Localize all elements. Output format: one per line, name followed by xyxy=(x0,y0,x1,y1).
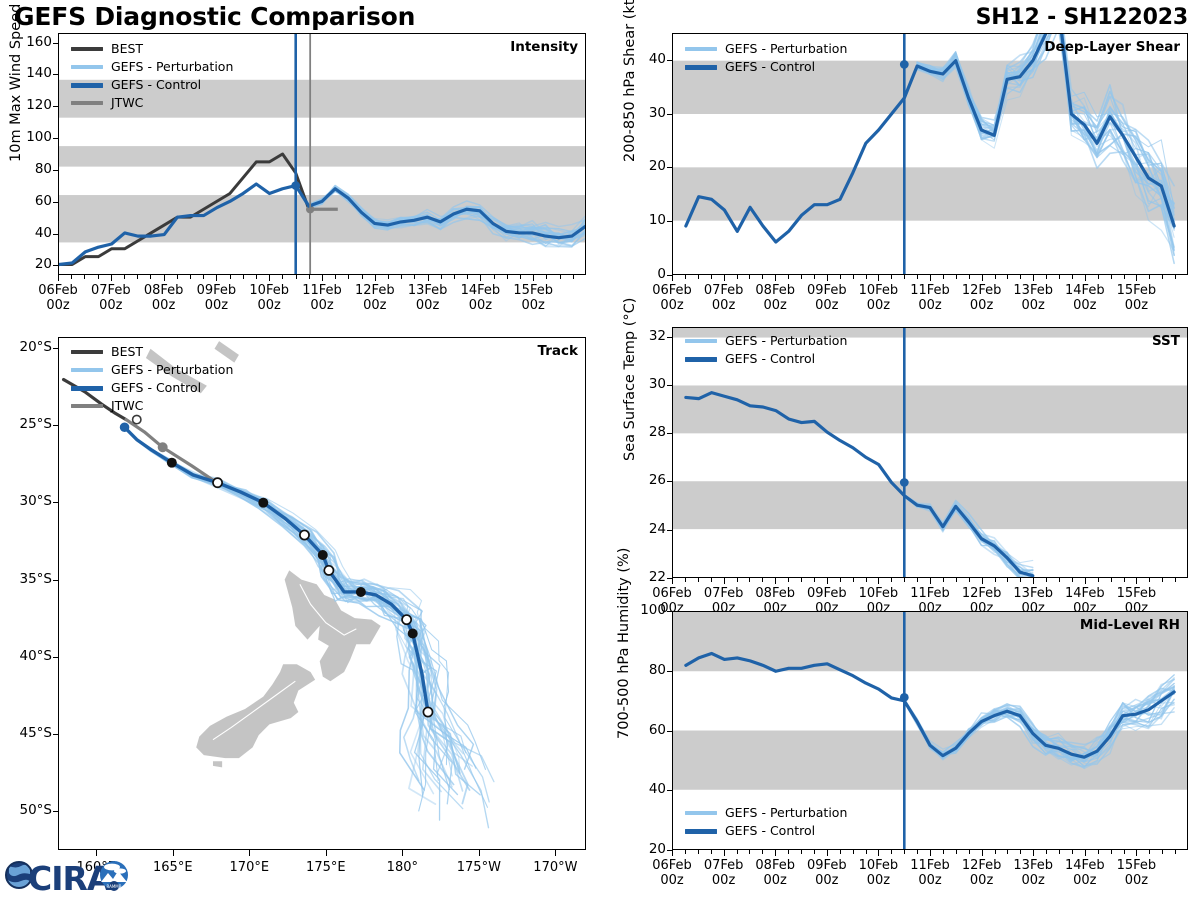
xtick-shear-minor xyxy=(1007,275,1008,279)
svg-text:CIRA: CIRA xyxy=(28,859,113,898)
ytick-track: 20°S xyxy=(4,339,52,355)
legend-item-perturbation: GEFS - Perturbation xyxy=(71,59,233,75)
xtick-intensity-minor xyxy=(98,275,99,279)
xtick-rh-mark xyxy=(1033,850,1034,856)
legend-swatch-perturbation xyxy=(71,65,103,70)
xtick-rh-minor xyxy=(866,850,867,854)
ytick-shear: 30 xyxy=(626,105,666,121)
xtick-rh-minor xyxy=(1007,850,1008,854)
legend-swatch-control xyxy=(685,829,717,834)
xtick-intensity-mark xyxy=(480,275,481,281)
xtick-sst-minor xyxy=(866,578,867,582)
xtick-sst-minor xyxy=(1149,578,1150,582)
ytick-sst: 30 xyxy=(626,376,666,392)
xtick-sst-mark xyxy=(930,578,931,584)
ytick-sst-mark xyxy=(667,433,672,434)
ytick-shear: 20 xyxy=(626,158,666,174)
xtick-rh-minor xyxy=(814,850,815,854)
xtick-intensity-minor xyxy=(560,275,561,279)
xtick-rh-minor xyxy=(685,850,686,854)
ytick-track-mark xyxy=(53,502,58,503)
xtick-rh-minor xyxy=(943,850,944,854)
xtick-rh-minor xyxy=(711,850,712,854)
xtick-rh-minor xyxy=(749,850,750,854)
legend-item-jtwc: JTWC xyxy=(71,95,233,111)
xtick-intensity: 15Feb00z xyxy=(499,283,567,314)
ytick-shear-mark xyxy=(667,167,672,168)
ytick-shear-mark xyxy=(667,221,672,222)
xtick-sst-minor xyxy=(814,578,815,582)
figure-root: GEFS Diagnostic Comparison SH12 - SH1220… xyxy=(0,0,1200,900)
legend-swatch-best xyxy=(71,47,103,52)
xtick-shear-minor xyxy=(1046,275,1047,279)
ytick-rh-mark xyxy=(667,731,672,732)
ytick-sst: 32 xyxy=(626,328,666,344)
storm-id-label: SH12 - SH122023 xyxy=(976,5,1188,30)
xtick-rh: 15Feb00z xyxy=(1102,858,1170,889)
xtick-intensity-minor xyxy=(401,275,402,279)
ytick-track-mark xyxy=(53,734,58,735)
svg-text:RAMMB: RAMMB xyxy=(107,884,122,889)
xtick-intensity-minor xyxy=(573,275,574,279)
xtick-shear-minor xyxy=(788,275,789,279)
ytick-sst: 26 xyxy=(626,472,666,488)
xtick-track: 175°W xyxy=(443,860,515,875)
xtick-rh-minor xyxy=(1124,850,1125,854)
xtick-shear-minor xyxy=(762,275,763,279)
ytick-track-mark xyxy=(53,580,58,581)
legend-label-jtwc: JTWC xyxy=(111,97,143,110)
legend-label-perturbation: GEFS - Perturbation xyxy=(725,335,847,348)
xtick-shear-mark xyxy=(775,275,776,281)
legend-label-perturbation: GEFS - Perturbation xyxy=(111,61,233,74)
xtick-shear-mark xyxy=(1085,275,1086,281)
legend-intensity: BEST GEFS - Perturbation GEFS - Control … xyxy=(71,41,233,113)
panel-sst: SST GEFS - Perturbation GEFS - Control xyxy=(672,327,1188,578)
xtick-sst-minor xyxy=(1007,578,1008,582)
xtick-shear: 15Feb00z xyxy=(1102,283,1170,314)
xtick-sst-minor xyxy=(1098,578,1099,582)
cira-logo-graphic: CIRA RAMMB xyxy=(4,852,132,898)
panel-title-intensity: Intensity xyxy=(510,39,578,55)
xtick-track-mark xyxy=(555,850,556,856)
xtick-intensity-minor xyxy=(124,275,125,279)
xtick-intensity-mark xyxy=(216,275,217,281)
xtick-sst-minor xyxy=(943,578,944,582)
xtick-intensity-minor xyxy=(190,275,191,279)
xtick-intensity-mark xyxy=(428,275,429,281)
xtick-shear-minor xyxy=(1162,275,1163,279)
xtick-rh-mark xyxy=(827,850,828,856)
xtick-sst-minor xyxy=(737,578,738,582)
legend-item-perturbation: GEFS - Perturbation xyxy=(685,805,847,821)
xtick-sst-minor xyxy=(891,578,892,582)
xtick-track-mark xyxy=(326,850,327,856)
xtick-intensity-mark xyxy=(322,275,323,281)
xtick-shear-minor xyxy=(840,275,841,279)
xtick-sst-mark xyxy=(982,578,983,584)
ytick-shear-mark xyxy=(667,114,672,115)
xtick-sst-mark xyxy=(878,578,879,584)
legend-track: BEST GEFS - Perturbation GEFS - Control … xyxy=(71,344,233,416)
xtick-sst-mark xyxy=(1033,578,1034,584)
legend-item-control: GEFS - Control xyxy=(685,59,847,75)
xtick-track: 170°W xyxy=(519,860,591,875)
legend-label-control: GEFS - Control xyxy=(111,79,201,92)
legend-item-perturbation: GEFS - Perturbation xyxy=(685,333,847,349)
panel-rh: Mid-Level RH GEFS - Perturbation GEFS - … xyxy=(672,611,1188,850)
legend-item-control: GEFS - Control xyxy=(685,823,847,839)
xtick-rh-mark xyxy=(724,850,725,856)
xtick-intensity-minor xyxy=(203,275,204,279)
xtick-shear-minor xyxy=(1020,275,1021,279)
ytick-intensity: 60 xyxy=(12,193,52,209)
legend-swatch-best xyxy=(71,350,103,355)
xtick-rh-mark xyxy=(672,850,673,856)
xtick-rh-minor xyxy=(995,850,996,854)
xtick-rh-mark xyxy=(1136,850,1137,856)
panel-intensity: Intensity BEST GEFS - Perturbation GEFS … xyxy=(58,33,586,275)
xtick-sst-minor xyxy=(749,578,750,582)
legend-shear: GEFS - Perturbation GEFS - Control xyxy=(685,41,847,77)
xtick-track: 180° xyxy=(366,860,438,875)
xtick-sst-minor xyxy=(1020,578,1021,582)
legend-item-jtwc: JTWC xyxy=(71,398,233,414)
xtick-sst: 15Feb00z xyxy=(1102,586,1170,617)
xtick-shear-minor xyxy=(917,275,918,279)
legend-item-control: GEFS - Control xyxy=(71,77,233,93)
xtick-sst-minor xyxy=(1175,578,1176,582)
xtick-rh-mark xyxy=(1085,850,1086,856)
legend-swatch-perturbation xyxy=(685,811,717,816)
xtick-rh-minor xyxy=(956,850,957,854)
ytick-intensity-mark xyxy=(53,74,58,75)
xtick-sst-minor xyxy=(956,578,957,582)
legend-swatch-control xyxy=(685,65,717,70)
xtick-track: 170°E xyxy=(213,860,285,875)
ytick-intensity: 100 xyxy=(12,129,52,145)
xtick-shear-minor xyxy=(995,275,996,279)
xtick-intensity-minor xyxy=(71,275,72,279)
ytick-track: 50°S xyxy=(4,802,52,818)
legend-label-control: GEFS - Control xyxy=(725,61,815,74)
xtick-shear-mark xyxy=(878,275,879,281)
xtick-sst-mark xyxy=(724,578,725,584)
ytick-intensity-mark xyxy=(53,138,58,139)
xtick-track: 175°E xyxy=(290,860,362,875)
xtick-sst-minor xyxy=(685,578,686,582)
xtick-intensity-minor xyxy=(546,275,547,279)
xtick-sst-minor xyxy=(1046,578,1047,582)
xtick-track-mark xyxy=(479,850,480,856)
xtick-shear-minor xyxy=(1059,275,1060,279)
ytick-rh: 80 xyxy=(626,662,666,678)
xtick-intensity-minor xyxy=(84,275,85,279)
panel-title-shear: Deep-Layer Shear xyxy=(1044,39,1180,55)
xtick-shear-mark xyxy=(672,275,673,281)
xtick-intensity-mark xyxy=(58,275,59,281)
xtick-rh-minor xyxy=(1046,850,1047,854)
xtick-rh-mark xyxy=(930,850,931,856)
xtick-shear-minor xyxy=(737,275,738,279)
ytick-track: 25°S xyxy=(4,416,52,432)
xtick-sst-minor xyxy=(801,578,802,582)
ytick-shear: 40 xyxy=(626,51,666,67)
xtick-rh-minor xyxy=(1020,850,1021,854)
xtick-track-mark xyxy=(249,850,250,856)
xtick-shear-minor xyxy=(685,275,686,279)
xtick-rh-minor xyxy=(891,850,892,854)
xtick-sst-minor xyxy=(711,578,712,582)
legend-item-control: GEFS - Control xyxy=(71,380,233,396)
legend-swatch-perturbation xyxy=(685,339,717,344)
xtick-intensity-minor xyxy=(230,275,231,279)
ytick-sst: 22 xyxy=(626,569,666,585)
xtick-rh-minor xyxy=(969,850,970,854)
legend-label-best: BEST xyxy=(111,346,143,359)
xtick-track-mark xyxy=(402,850,403,856)
xtick-sst-minor xyxy=(1059,578,1060,582)
xtick-sst-minor xyxy=(1124,578,1125,582)
xtick-shear-minor xyxy=(956,275,957,279)
xtick-sst-mark xyxy=(827,578,828,584)
xtick-shear-mark xyxy=(1033,275,1034,281)
legend-label-perturbation: GEFS - Perturbation xyxy=(725,43,847,56)
xtick-intensity-minor xyxy=(296,275,297,279)
xtick-sst-mark xyxy=(1136,578,1137,584)
xtick-shear-mark xyxy=(930,275,931,281)
ytick-rh-mark xyxy=(667,790,672,791)
xtick-intensity-minor xyxy=(137,275,138,279)
xtick-intensity-minor xyxy=(520,275,521,279)
xtick-rh-mark xyxy=(775,850,776,856)
ytick-intensity-mark xyxy=(53,106,58,107)
panel-track: Track BEST GEFS - Perturbation GEFS - Co… xyxy=(58,337,586,850)
ylabel-rh: 700-500 hPa Humidity (%) xyxy=(616,548,632,739)
xtick-rh-minor xyxy=(1072,850,1073,854)
xtick-intensity-minor xyxy=(282,275,283,279)
ytick-track: 40°S xyxy=(4,648,52,664)
ytick-rh: 100 xyxy=(626,602,666,618)
ytick-sst-mark xyxy=(667,385,672,386)
ytick-rh: 20 xyxy=(626,841,666,857)
ytick-track-mark xyxy=(53,811,58,812)
xtick-rh-minor xyxy=(917,850,918,854)
xtick-intensity-mark xyxy=(533,275,534,281)
xtick-rh-minor xyxy=(698,850,699,854)
ytick-shear: 10 xyxy=(626,212,666,228)
ytick-track: 35°S xyxy=(4,571,52,587)
xtick-intensity-minor xyxy=(243,275,244,279)
xtick-sst-minor xyxy=(904,578,905,582)
legend-swatch-control xyxy=(71,386,103,391)
ytick-rh: 40 xyxy=(626,781,666,797)
xtick-rh-minor xyxy=(853,850,854,854)
xtick-shear-minor xyxy=(698,275,699,279)
legend-item-best: BEST xyxy=(71,344,233,360)
xtick-shear-minor xyxy=(1072,275,1073,279)
xtick-rh-minor xyxy=(788,850,789,854)
xtick-intensity-minor xyxy=(454,275,455,279)
ytick-shear-mark xyxy=(667,60,672,61)
ytick-sst-mark xyxy=(667,530,672,531)
xtick-sst-minor xyxy=(788,578,789,582)
legend-swatch-perturbation xyxy=(71,368,103,373)
xtick-sst-minor xyxy=(853,578,854,582)
xtick-rh-minor xyxy=(840,850,841,854)
ytick-intensity: 80 xyxy=(12,161,52,177)
ytick-intensity: 140 xyxy=(12,65,52,81)
ytick-track: 30°S xyxy=(4,493,52,509)
xtick-intensity-minor xyxy=(309,275,310,279)
legend-label-jtwc: JTWC xyxy=(111,400,143,413)
xtick-shear-mark xyxy=(827,275,828,281)
xtick-sst-minor xyxy=(995,578,996,582)
ytick-intensity: 120 xyxy=(12,97,52,113)
xtick-rh-minor xyxy=(1098,850,1099,854)
xtick-rh-minor xyxy=(1059,850,1060,854)
xtick-shear-mark xyxy=(724,275,725,281)
xtick-rh-minor xyxy=(1175,850,1176,854)
legend-item-perturbation: GEFS - Perturbation xyxy=(71,362,233,378)
xtick-rh-minor xyxy=(1149,850,1150,854)
ytick-shear: 0 xyxy=(626,266,666,282)
xtick-shear-mark xyxy=(1136,275,1137,281)
legend-label-best: BEST xyxy=(111,43,143,56)
xtick-rh-minor xyxy=(1162,850,1163,854)
ytick-intensity-mark xyxy=(53,170,58,171)
xtick-sst-minor xyxy=(762,578,763,582)
legend-swatch-control xyxy=(685,357,717,362)
xtick-intensity-mark xyxy=(164,275,165,281)
ytick-track-mark xyxy=(53,657,58,658)
legend-label-perturbation: GEFS - Perturbation xyxy=(725,807,847,820)
ytick-intensity-mark xyxy=(53,234,58,235)
xtick-shear-mark xyxy=(982,275,983,281)
xtick-shear-minor xyxy=(969,275,970,279)
ytick-intensity: 20 xyxy=(12,256,52,272)
ytick-sst-mark xyxy=(667,481,672,482)
ytick-intensity-mark xyxy=(53,43,58,44)
xtick-sst-mark xyxy=(672,578,673,584)
legend-rh: GEFS - Perturbation GEFS - Control xyxy=(685,805,847,841)
xtick-intensity-minor xyxy=(348,275,349,279)
xtick-shear-minor xyxy=(904,275,905,279)
legend-swatch-perturbation xyxy=(685,47,717,52)
xtick-shear-minor xyxy=(1175,275,1176,279)
xtick-shear-minor xyxy=(1124,275,1125,279)
legend-swatch-jtwc xyxy=(71,101,103,106)
panel-title-sst: SST xyxy=(1152,333,1180,349)
xtick-shear-minor xyxy=(853,275,854,279)
xtick-shear-minor xyxy=(711,275,712,279)
xtick-rh-minor xyxy=(801,850,802,854)
legend-label-control: GEFS - Control xyxy=(725,353,815,366)
xtick-shear-minor xyxy=(943,275,944,279)
legend-sst: GEFS - Perturbation GEFS - Control xyxy=(685,333,847,369)
xtick-intensity-mark xyxy=(375,275,376,281)
legend-swatch-control xyxy=(71,83,103,88)
xtick-sst-minor xyxy=(917,578,918,582)
xtick-track-mark xyxy=(173,850,174,856)
legend-label-control: GEFS - Control xyxy=(725,825,815,838)
xtick-intensity-minor xyxy=(507,275,508,279)
xtick-shear-minor xyxy=(891,275,892,279)
xtick-rh-minor xyxy=(904,850,905,854)
xtick-rh-mark xyxy=(982,850,983,856)
legend-label-perturbation: GEFS - Perturbation xyxy=(111,364,233,377)
legend-item-perturbation: GEFS - Perturbation xyxy=(685,41,847,57)
xtick-sst-mark xyxy=(775,578,776,584)
xtick-intensity-minor xyxy=(362,275,363,279)
page-title: GEFS Diagnostic Comparison xyxy=(14,2,415,31)
xtick-shear-minor xyxy=(866,275,867,279)
xtick-shear-minor xyxy=(1098,275,1099,279)
xtick-shear-minor xyxy=(1111,275,1112,279)
xtick-sst-minor xyxy=(969,578,970,582)
xtick-intensity-minor xyxy=(467,275,468,279)
panel-title-track: Track xyxy=(538,343,578,359)
xtick-track: 165°E xyxy=(137,860,209,875)
xtick-intensity-mark xyxy=(269,275,270,281)
xtick-shear-minor xyxy=(1149,275,1150,279)
legend-item-best: BEST xyxy=(71,41,233,57)
xtick-intensity-minor xyxy=(494,275,495,279)
ytick-track-mark xyxy=(53,425,58,426)
xtick-rh-mark xyxy=(878,850,879,856)
xtick-shear-minor xyxy=(814,275,815,279)
panel-title-rh: Mid-Level RH xyxy=(1080,617,1180,633)
xtick-rh-minor xyxy=(1111,850,1112,854)
xtick-sst-minor xyxy=(1072,578,1073,582)
xtick-intensity-minor xyxy=(177,275,178,279)
xtick-intensity-minor xyxy=(441,275,442,279)
ytick-track-mark xyxy=(53,348,58,349)
xtick-shear-minor xyxy=(749,275,750,279)
ytick-intensity-mark xyxy=(53,202,58,203)
panel-shear: Deep-Layer Shear GEFS - Perturbation GEF… xyxy=(672,33,1188,275)
xtick-sst-minor xyxy=(698,578,699,582)
ytick-track: 45°S xyxy=(4,725,52,741)
legend-item-control: GEFS - Control xyxy=(685,351,847,367)
xtick-intensity-mark xyxy=(111,275,112,281)
xtick-intensity-minor xyxy=(335,275,336,279)
ytick-sst: 28 xyxy=(626,424,666,440)
xtick-shear-minor xyxy=(801,275,802,279)
ytick-rh-mark xyxy=(667,611,672,612)
xtick-rh-minor xyxy=(737,850,738,854)
xtick-intensity-minor xyxy=(256,275,257,279)
ytick-sst-mark xyxy=(667,337,672,338)
ytick-intensity: 160 xyxy=(12,34,52,50)
xtick-sst-minor xyxy=(1162,578,1163,582)
ytick-intensity-mark xyxy=(53,265,58,266)
ytick-sst: 24 xyxy=(626,521,666,537)
cira-logo: CIRA RAMMB xyxy=(4,852,132,898)
ytick-intensity: 40 xyxy=(12,225,52,241)
xtick-intensity-minor xyxy=(150,275,151,279)
legend-swatch-jtwc xyxy=(71,404,103,409)
ytick-rh: 60 xyxy=(626,722,666,738)
xtick-intensity-minor xyxy=(414,275,415,279)
legend-label-control: GEFS - Control xyxy=(111,382,201,395)
xtick-sst-minor xyxy=(1111,578,1112,582)
ylabel-shear: 200-850 hPa Shear (kt) xyxy=(622,0,638,162)
xtick-intensity-minor xyxy=(388,275,389,279)
xtick-sst-mark xyxy=(1085,578,1086,584)
xtick-rh-minor xyxy=(762,850,763,854)
xtick-sst-minor xyxy=(840,578,841,582)
